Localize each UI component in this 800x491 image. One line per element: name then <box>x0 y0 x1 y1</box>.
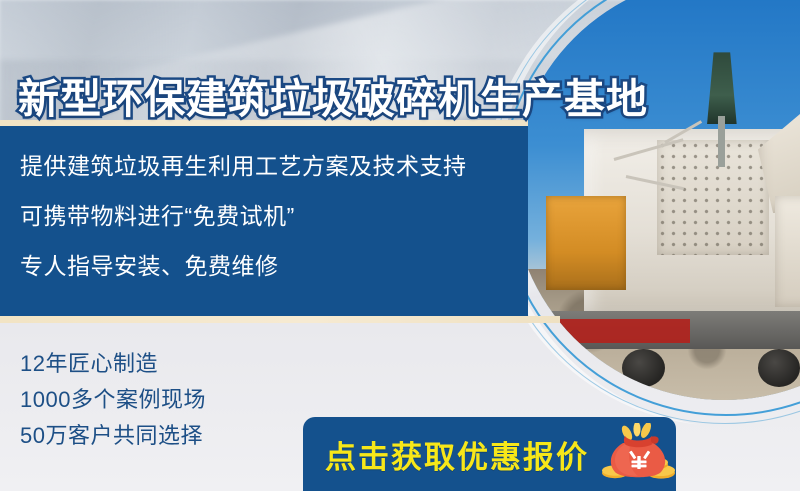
feature-line: 专人指导安装、免费维修 <box>20 252 500 280</box>
feature-list: 提供建筑垃圾再生利用工艺方案及技术支持 可携带物料进行“免费试机” 专人指导安装… <box>20 152 500 302</box>
stat-line: 12年匠心制造 <box>20 346 206 382</box>
get-quote-button[interactable]: 点击获取优惠报价 <box>303 417 676 491</box>
feature-line: 可携带物料进行“免费试机” <box>20 202 500 230</box>
page-title: 新型环保建筑垃圾破碎机生产基地 <box>18 65 648 125</box>
panel-bottom-strip <box>0 316 560 323</box>
feature-line: 提供建筑垃圾再生利用工艺方案及技术支持 <box>20 152 500 180</box>
money-bag-icon <box>601 423 676 485</box>
stat-line: 1000多个案例现场 <box>20 382 206 418</box>
promo-banner: 新型环保建筑垃圾破碎机生产基地 提供建筑垃圾再生利用工艺方案及技术支持 可携带物… <box>0 0 800 491</box>
photo-wheel <box>758 349 800 387</box>
stat-line: 50万客户共同选择 <box>20 418 206 454</box>
get-quote-label: 点击获取优惠报价 <box>325 432 589 477</box>
stats-list: 12年匠心制造 1000多个案例现场 50万客户共同选择 <box>20 346 206 454</box>
